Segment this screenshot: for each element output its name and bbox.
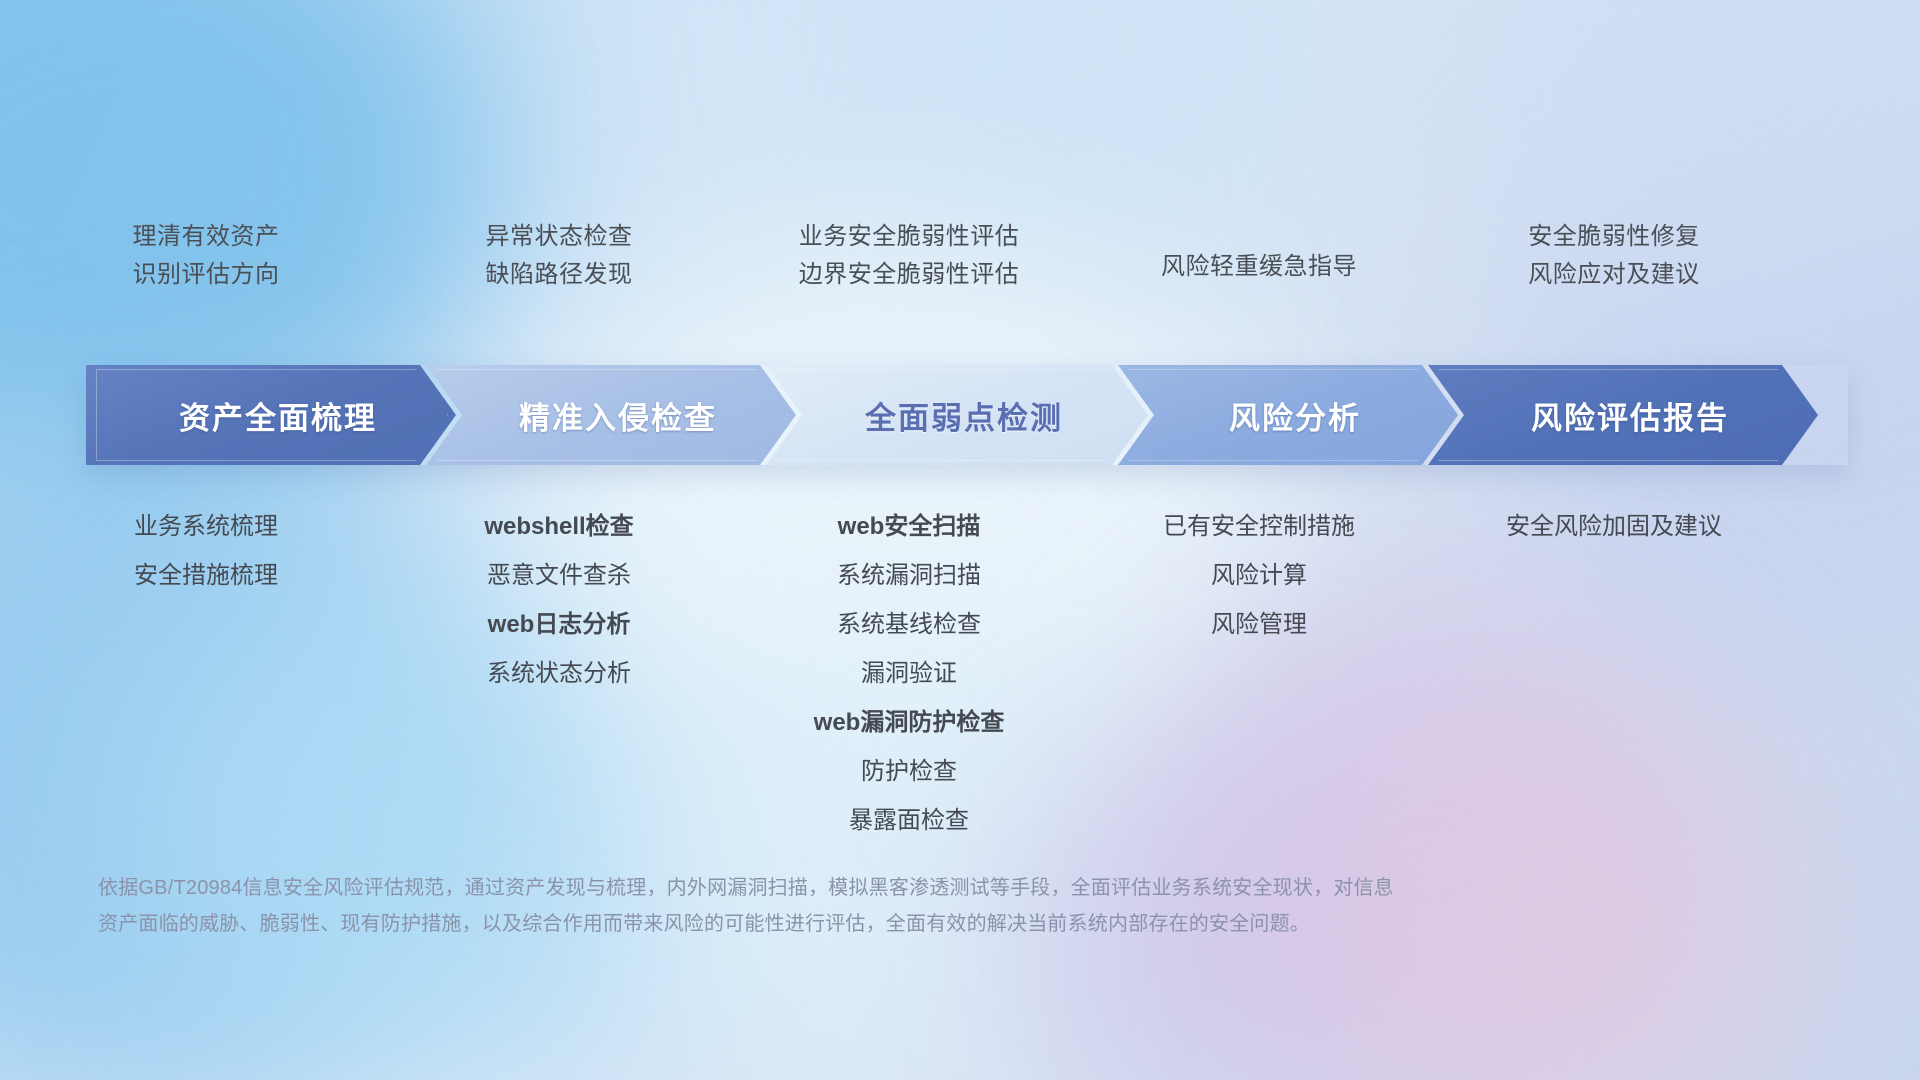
top-label-group-3: 业务安全脆弱性评估 边界安全脆弱性评估 (724, 218, 1094, 294)
stage-arrow-risk-analysis[interactable]: 风险分析 (1118, 365, 1458, 465)
bottom-label-text: 风险计算 (1094, 551, 1424, 600)
bottom-label-group-3: web安全扫描 系统漏洞扫描 系统基线检查 漏洞验证 web漏洞防护检查 防护检… (724, 502, 1094, 845)
bottom-label-text: web安全扫描 (724, 502, 1094, 551)
bottom-label-text: webshell检查 (394, 502, 724, 551)
footer-line: 依据GB/T20984信息安全风险评估规范，通过资产发现与梳理，内外网漏洞扫描，… (98, 870, 1618, 906)
bottom-label-text: 系统漏洞扫描 (724, 551, 1094, 600)
top-label-text: 业务安全脆弱性评估 (724, 218, 1094, 256)
bottom-label-text: web漏洞防护检查 (724, 698, 1094, 747)
top-label-text: 缺陷路径发现 (394, 256, 724, 294)
bottom-label-text: 已有安全控制措施 (1094, 502, 1424, 551)
stage-arrow-risk-report[interactable]: 风险评估报告 (1428, 365, 1818, 465)
top-label-text: 风险应对及建议 (1424, 256, 1804, 294)
bottom-label-group-2: webshell检查 恶意文件查杀 web日志分析 系统状态分析 (394, 502, 724, 698)
bottom-label-text: 安全措施梳理 (18, 551, 394, 600)
stage-arrow-label: 风险分析 (1215, 393, 1361, 438)
bottom-label-group-5: 安全风险加固及建议 (1424, 502, 1804, 551)
top-label-text: 异常状态检查 (394, 218, 724, 256)
bottom-label-text: 风险管理 (1094, 600, 1424, 649)
top-label-text: 安全脆弱性修复 (1424, 218, 1804, 256)
stage-arrow-weakness-detection[interactable]: 全面弱点检测 (766, 365, 1148, 465)
stage-arrow-asset-inventory[interactable]: 资产全面梳理 (86, 365, 456, 465)
top-label-text: 风险轻重缓急指导 (1094, 248, 1424, 286)
top-label-group-5: 安全脆弱性修复 风险应对及建议 (1424, 218, 1804, 294)
stage-arrow-label: 精准入侵检查 (505, 393, 717, 438)
bottom-label-text: 系统基线检查 (724, 600, 1094, 649)
bottom-label-text: web日志分析 (394, 600, 724, 649)
top-label-text: 理清有效资产 (18, 218, 394, 256)
bottom-label-text: 漏洞验证 (724, 649, 1094, 698)
stage-band: 资产全面梳理 精准入侵检查 全面弱点检测 风险分析 风险评估报告 (86, 365, 1848, 465)
bottom-label-group-1: 业务系统梳理 安全措施梳理 (18, 502, 394, 600)
bottom-label-text: 业务系统梳理 (18, 502, 394, 551)
bottom-label-group-4: 已有安全控制措施 风险计算 风险管理 (1094, 502, 1424, 649)
footer-description: 依据GB/T20984信息安全风险评估规范，通过资产发现与梳理，内外网漏洞扫描，… (98, 870, 1618, 942)
top-label-group-4: 风险轻重缓急指导 (1094, 218, 1424, 294)
top-label-group-1: 理清有效资产 识别评估方向 (18, 218, 394, 294)
footer-line: 资产面临的威胁、脆弱性、现有防护措施，以及综合作用而带来风险的可能性进行评估，全… (98, 906, 1618, 942)
bottom-label-text: 安全风险加固及建议 (1424, 502, 1804, 551)
top-label-row: 理清有效资产 识别评估方向 异常状态检查 缺陷路径发现 业务安全脆弱性评估 边界… (0, 218, 1920, 294)
top-label-text: 识别评估方向 (18, 256, 394, 294)
stage-arrow-label: 全面弱点检测 (851, 393, 1063, 438)
bottom-label-text: 恶意文件查杀 (394, 551, 724, 600)
process-diagram: 理清有效资产 识别评估方向 异常状态检查 缺陷路径发现 业务安全脆弱性评估 边界… (0, 0, 1920, 1080)
stage-arrow-label: 资产全面梳理 (165, 393, 377, 438)
top-label-text: 边界安全脆弱性评估 (724, 256, 1094, 294)
bottom-label-text: 系统状态分析 (394, 649, 724, 698)
bottom-label-text: 防护检查 (724, 747, 1094, 796)
stage-arrow-intrusion-check[interactable]: 精准入侵检查 (426, 365, 796, 465)
top-label-group-2: 异常状态检查 缺陷路径发现 (394, 218, 724, 294)
stage-arrow-label: 风险评估报告 (1517, 393, 1729, 438)
bottom-label-text: 暴露面检查 (724, 796, 1094, 845)
bottom-label-row: 业务系统梳理 安全措施梳理 webshell检查 恶意文件查杀 web日志分析 … (0, 502, 1920, 845)
